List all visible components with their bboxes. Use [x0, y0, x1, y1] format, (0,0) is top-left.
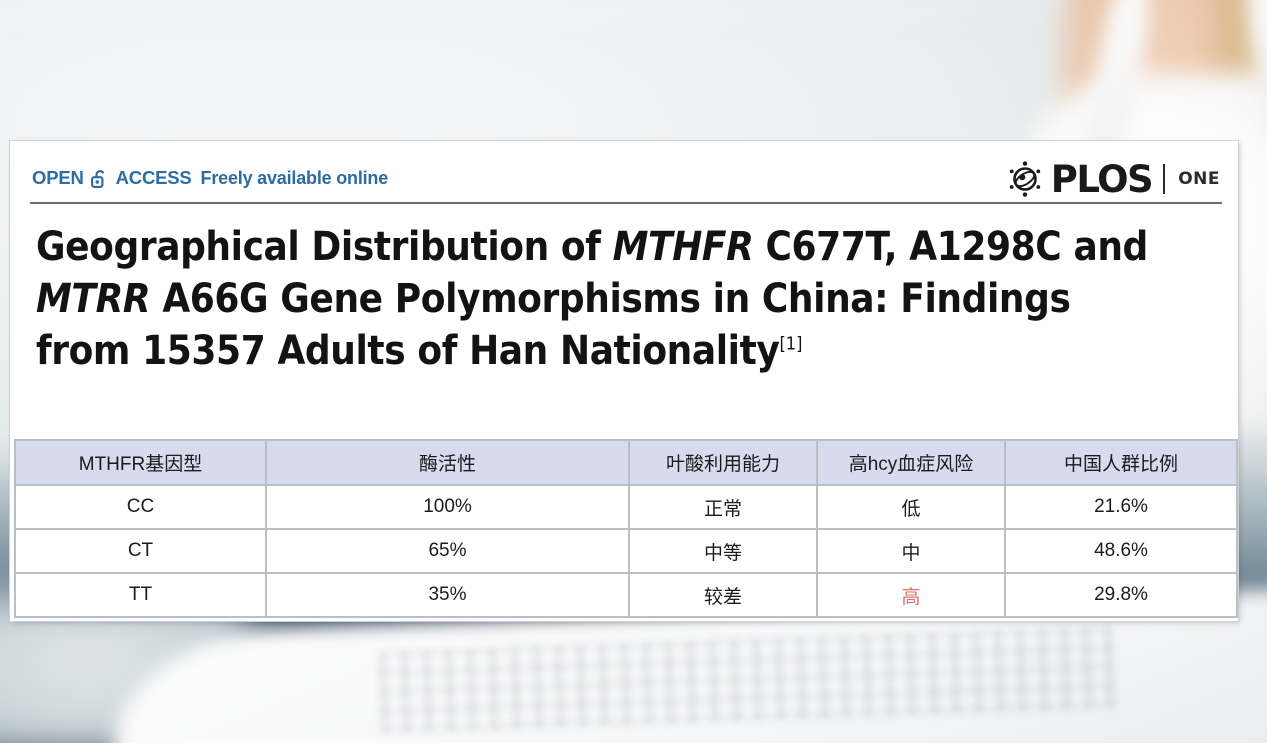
plos-wordmark: PLOS — [1051, 161, 1152, 198]
cell-folate-utilization: 中等 — [629, 529, 817, 573]
open-access-tagline: Freely available online — [201, 168, 389, 189]
cell-hcy-risk: 高 — [817, 573, 1005, 617]
gene-name-mthfr: MTHFR — [613, 224, 754, 270]
cell-population-share: 48.6% — [1005, 529, 1237, 573]
table-row: CT 65% 中等 中 48.6% — [15, 529, 1237, 573]
logo-divider — [1163, 164, 1165, 194]
cell-hcy-risk: 低 — [817, 485, 1005, 529]
title-line1-prefix: Geographical Distribution of — [36, 224, 613, 270]
cell-enzyme-activity: 100% — [266, 485, 629, 529]
title-line2-suffix: A66G Gene Polymorphisms in China: Findin… — [150, 276, 1070, 322]
cell-genotype: TT — [15, 573, 266, 617]
column-header-folate-utilization: 叶酸利用能力 — [629, 440, 817, 485]
open-padlock-icon — [89, 168, 111, 190]
cell-population-share: 29.8% — [1005, 573, 1237, 617]
plos-atom-icon — [1005, 159, 1045, 199]
column-header-population-share: 中国人群比例 — [1005, 440, 1237, 485]
citation-superscript: [1] — [779, 334, 802, 355]
open-access-open-label: OPEN — [32, 167, 84, 189]
cell-hcy-risk: 中 — [817, 529, 1005, 573]
cell-genotype: CC — [15, 485, 266, 529]
plos-one-logo: PLOS ONE — [1005, 159, 1220, 199]
cell-enzyme-activity: 65% — [266, 529, 629, 573]
cell-population-share: 21.6% — [1005, 485, 1237, 529]
table-header-row: MTHFR基因型 酶活性 叶酸利用能力 高hcy血症风险 中国人群比例 — [15, 440, 1237, 485]
cell-enzyme-activity: 35% — [266, 573, 629, 617]
title-line3: from 15357 Adults of Han Nationality — [36, 328, 779, 374]
cell-genotype: CT — [15, 529, 266, 573]
header-rule — [30, 202, 1222, 204]
gene-name-mtrr: MTRR — [36, 276, 150, 322]
article-title: Geographical Distribution of MTHFR C677T… — [36, 221, 1220, 377]
table-row: TT 35% 较差 高 29.8% — [15, 573, 1237, 617]
table-row: CC 100% 正常 低 21.6% — [15, 485, 1237, 529]
slide-panel: OPEN ACCESS Freely available online — [10, 141, 1238, 621]
open-access-access-label: ACCESS — [116, 167, 192, 189]
open-access-badge: OPEN ACCESS Freely available online — [32, 167, 388, 189]
column-header-enzyme-activity: 酶活性 — [266, 440, 629, 485]
mthfr-genotype-table: MTHFR基因型 酶活性 叶酸利用能力 高hcy血症风险 中国人群比例 CC 1… — [14, 439, 1238, 618]
column-header-hcy-risk: 高hcy血症风险 — [817, 440, 1005, 485]
column-header-genotype: MTHFR基因型 — [15, 440, 266, 485]
cell-folate-utilization: 较差 — [629, 573, 817, 617]
cell-folate-utilization: 正常 — [629, 485, 817, 529]
title-line1-suffix: C677T, A1298C and — [753, 224, 1147, 270]
journal-header: OPEN ACCESS Freely available online — [10, 141, 1238, 203]
journal-name: ONE — [1178, 169, 1220, 189]
